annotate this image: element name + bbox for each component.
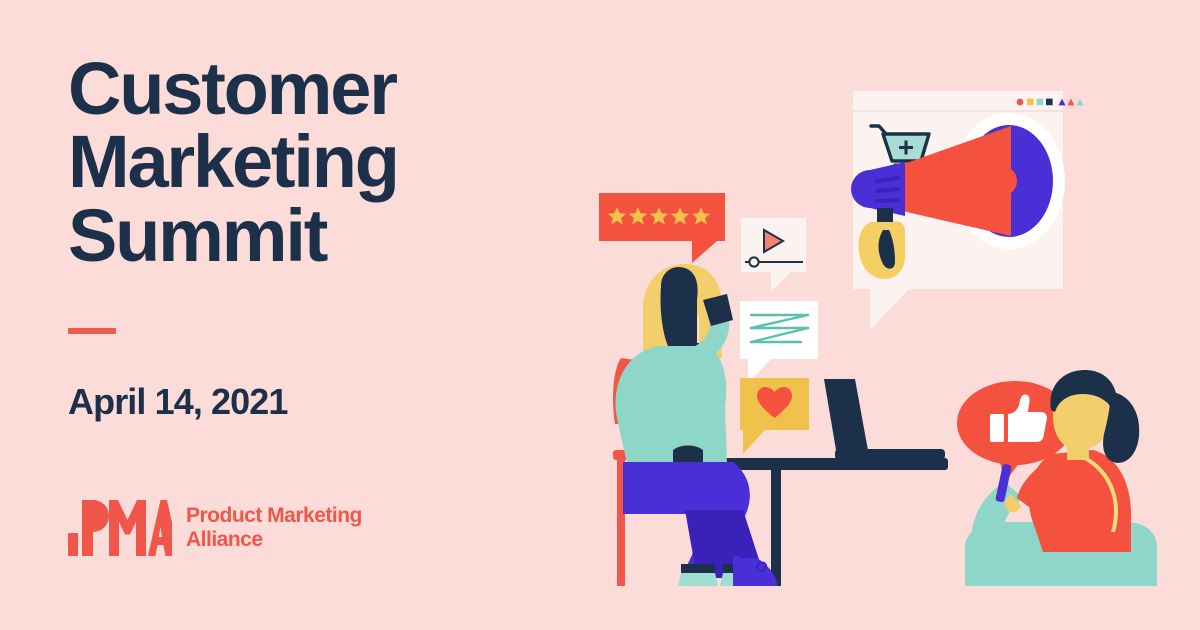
heart-bubble bbox=[740, 378, 809, 454]
hero-text-column: Customer Marketing Summit April 14, 2021 bbox=[68, 52, 568, 423]
message-bubble bbox=[740, 301, 818, 383]
pma-logo-mark-icon bbox=[68, 500, 172, 556]
poster-canvas: Customer Marketing Summit April 14, 2021… bbox=[0, 0, 1200, 630]
illustration-svg bbox=[565, 58, 1185, 588]
video-player-bubble bbox=[741, 218, 806, 292]
brand-name: Product Marketing Alliance bbox=[186, 504, 362, 551]
laptop bbox=[824, 379, 945, 460]
star-rating-bubble bbox=[599, 193, 725, 263]
page-title: Customer Marketing Summit bbox=[68, 52, 568, 272]
brand-logo: Product Marketing Alliance bbox=[68, 500, 362, 556]
customer-marketing-illustration bbox=[565, 58, 1185, 588]
event-date: April 14, 2021 bbox=[68, 381, 568, 423]
megaphone-browser-window bbox=[851, 91, 1084, 330]
title-divider bbox=[68, 328, 116, 334]
